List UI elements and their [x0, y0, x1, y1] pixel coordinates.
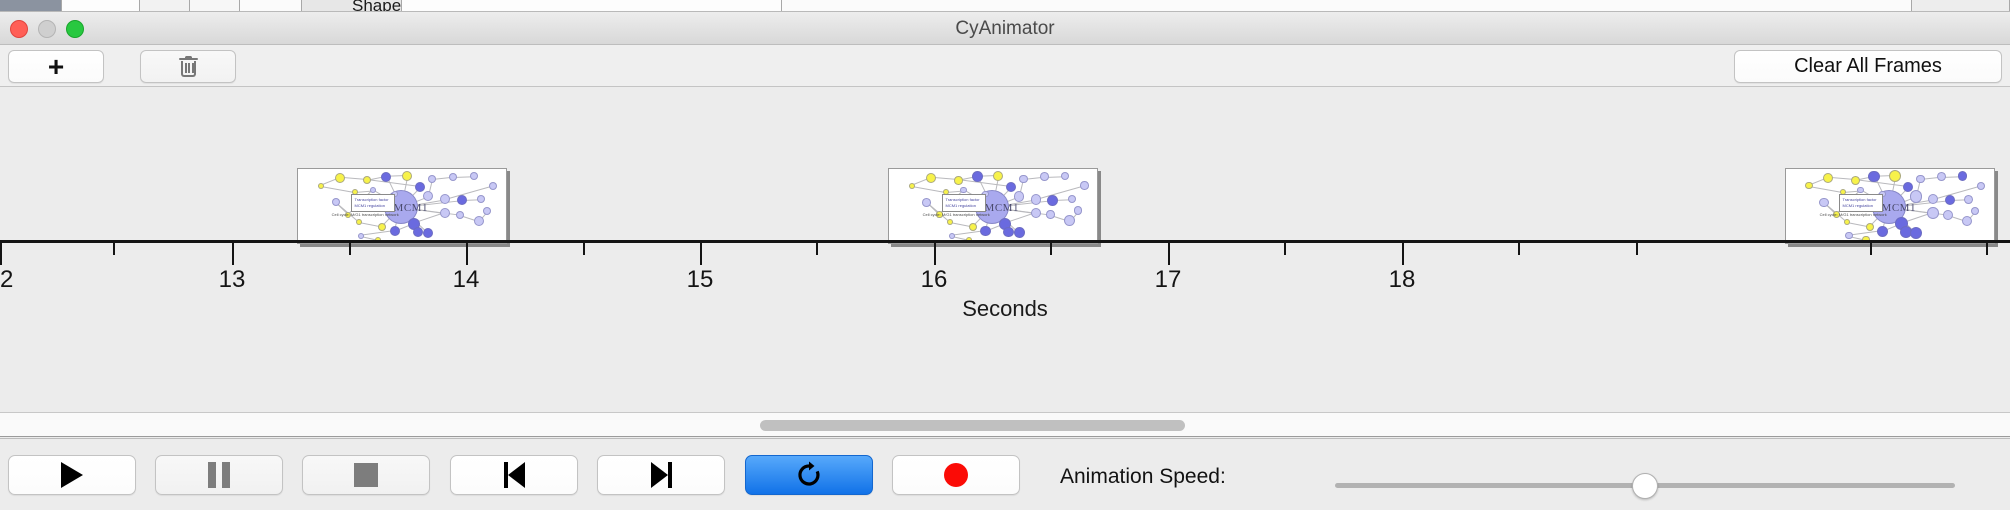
- ruler-tick-label: 14: [453, 266, 480, 294]
- ruler-tick-minor: [1518, 243, 1520, 255]
- ruler-tick-minor: [1050, 243, 1052, 255]
- background-window-strip: Shape: [0, 0, 2010, 12]
- ruler-tick-minor: [1870, 243, 1872, 255]
- play-button[interactable]: [8, 455, 136, 495]
- pause-icon: [208, 462, 230, 488]
- node-tooltip: Transcription factorMCM1 regulation: [942, 194, 986, 212]
- timeline-ruler: [0, 240, 2010, 243]
- timeline-scrollbar[interactable]: [0, 413, 2010, 437]
- timeline-scrollbar-thumb[interactable]: [760, 420, 1185, 431]
- stop-icon: [354, 463, 378, 487]
- ruler-tick-major: [934, 243, 936, 265]
- node-tooltip: Transcription factorMCM1 regulation: [351, 194, 395, 212]
- ruler-tick-label: 18: [1389, 266, 1416, 294]
- record-icon: [944, 463, 968, 487]
- ruler-tick-minor: [113, 243, 115, 255]
- loop-button[interactable]: [745, 455, 873, 495]
- next-icon: [651, 462, 672, 488]
- background-window-label: Shape: [352, 0, 401, 12]
- cyanimator-window: Shape CyAnimator + Clear All Frames MCM1…: [0, 0, 2010, 510]
- network-annotation: Cell cycle: M/G1 transcription network: [923, 212, 990, 217]
- network-thumbnail-image: MCM1Transcription factorMCM1 regulationC…: [889, 169, 1097, 243]
- add-frame-button[interactable]: +: [8, 50, 104, 83]
- ruler-tick-label: 13: [219, 266, 246, 294]
- ruler-tick-minor: [816, 243, 818, 255]
- record-button[interactable]: [892, 455, 1020, 495]
- animation-speed-slider-knob[interactable]: [1632, 473, 1658, 499]
- ruler-tick-label: 17: [1155, 266, 1182, 294]
- play-icon: [61, 462, 83, 488]
- plus-icon: +: [48, 53, 64, 81]
- pause-button[interactable]: [155, 455, 283, 495]
- ruler-tick-label: 16: [921, 266, 948, 294]
- ruler-tick-label: 12: [0, 266, 13, 294]
- network-annotation: Cell cycle: M/G1 transcription network: [1820, 212, 1887, 217]
- ruler-tick-major: [700, 243, 702, 265]
- frame-thumbnail[interactable]: MCM1Transcription factorMCM1 regulationC…: [1785, 168, 1995, 244]
- frame-thumbnail[interactable]: MCM1Transcription factorMCM1 regulationC…: [297, 168, 507, 244]
- ruler-tick-major: [1402, 243, 1404, 265]
- ruler-tick-major: [0, 243, 2, 265]
- ruler-tick-major: [232, 243, 234, 265]
- axis-title: Seconds: [0, 296, 2010, 322]
- ruler-tick-major: [1168, 243, 1170, 265]
- ruler-tick-minor: [1636, 243, 1638, 255]
- prev-icon: [504, 462, 525, 488]
- ruler-tick-major: [466, 243, 468, 265]
- clear-all-frames-button[interactable]: Clear All Frames: [1734, 50, 2002, 83]
- trash-icon: [179, 56, 198, 78]
- loop-icon: [794, 460, 824, 490]
- network-annotation: Cell cycle: M/G1 transcription network: [332, 212, 399, 217]
- step-back-button[interactable]: [450, 455, 578, 495]
- network-thumbnail-image: MCM1Transcription factorMCM1 regulationC…: [298, 169, 506, 243]
- ruler-tick-minor: [1284, 243, 1286, 255]
- network-thumbnail-image: MCM1Transcription factorMCM1 regulationC…: [1786, 169, 1994, 243]
- ruler-tick-minor: [1986, 243, 1988, 255]
- ruler-tick-minor: [583, 243, 585, 255]
- playback-controls: Animation Speed:: [0, 438, 2010, 510]
- frame-toolbar: + Clear All Frames: [0, 45, 2010, 87]
- title-bar: CyAnimator: [0, 12, 2010, 45]
- node-tooltip: Transcription factorMCM1 regulation: [1839, 194, 1883, 212]
- ruler-tick-label: 15: [687, 266, 714, 294]
- clear-all-frames-label: Clear All Frames: [1794, 55, 1942, 78]
- animation-speed-label: Animation Speed:: [1060, 465, 1226, 489]
- delete-frame-button[interactable]: [140, 50, 236, 83]
- ruler-tick-minor: [349, 243, 351, 255]
- frame-thumbnail[interactable]: MCM1Transcription factorMCM1 regulationC…: [888, 168, 1098, 244]
- timeline-panel[interactable]: MCM1Transcription factorMCM1 regulationC…: [0, 88, 2010, 413]
- step-fwd-button[interactable]: [597, 455, 725, 495]
- window-title: CyAnimator: [0, 18, 2010, 40]
- stop-button[interactable]: [302, 455, 430, 495]
